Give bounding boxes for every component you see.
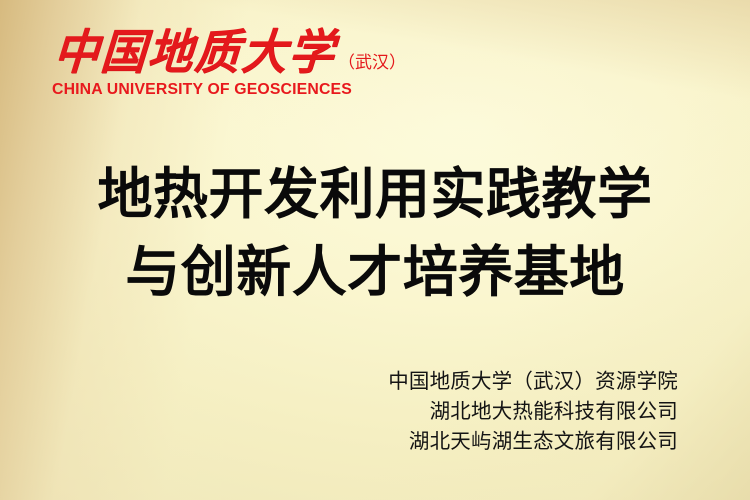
logo-calligraphy-text: 中国地质大学: [52, 28, 337, 76]
page-title: 地热开发利用实践教学 与创新人才培养基地: [0, 155, 750, 311]
presentation-title-slide: 中国地质大学 （武汉） CHINA UNIVERSITY OF GEOSCIEN…: [0, 0, 750, 500]
title-line-2: 与创新人才培养基地: [0, 233, 750, 311]
affiliation-line-3: 湖北天屿湖生态文旅有限公司: [388, 426, 678, 456]
affiliation-line-1: 中国地质大学（武汉）资源学院: [388, 366, 678, 396]
affiliation-line-2: 湖北地大热能科技有限公司: [388, 396, 678, 426]
logo-city-text: （武汉）: [338, 54, 406, 76]
logo-english-text: CHINA UNIVERSITY OF GEOSCIENCES: [52, 81, 389, 99]
title-line-1: 地热开发利用实践教学: [0, 155, 750, 233]
logo-chinese-row: 中国地质大学 （武汉）: [52, 20, 382, 76]
affiliation-list: 中国地质大学（武汉）资源学院 湖北地大热能科技有限公司 湖北天屿湖生态文旅有限公…: [388, 366, 678, 456]
university-logo: 中国地质大学 （武汉） CHINA UNIVERSITY OF GEOSCIEN…: [52, 20, 382, 99]
